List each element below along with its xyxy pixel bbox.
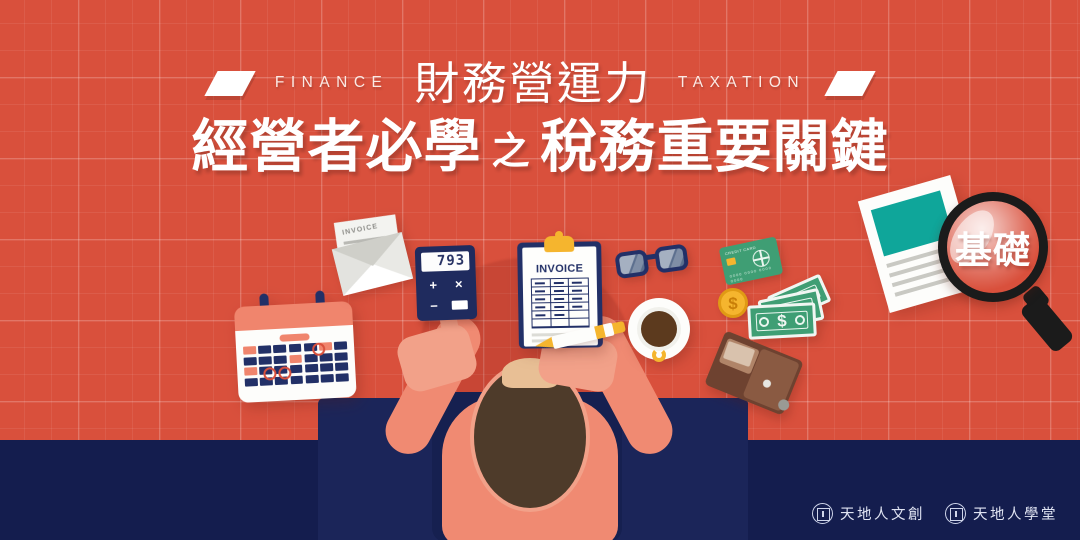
level-badge: 基礎 — [938, 192, 1048, 302]
magnifier-icon: 基礎 — [938, 192, 1078, 342]
calendar-day-grid — [243, 341, 349, 386]
calculator-key-plus: + — [429, 278, 437, 291]
calculator-key-multiply: × — [455, 277, 463, 290]
coffee-handle — [652, 348, 666, 362]
headline-part-1: 經營者必學 — [191, 114, 481, 180]
eyeglasses-icon — [614, 243, 693, 283]
course-banner: FINANCE 財務營運力 TAXATION 經營者必學之稅務重要關鍵 — [0, 0, 1080, 540]
credit-card-label: CREDIT CARD — [724, 245, 756, 256]
seal-logo-icon — [812, 503, 833, 524]
pen-end — [612, 321, 626, 334]
lens-right — [654, 243, 689, 273]
magnifier-handle — [1019, 294, 1075, 354]
invoice-table — [531, 277, 590, 328]
lens-left — [614, 249, 649, 279]
kicker-finance: FINANCE — [275, 74, 389, 92]
subtitle-chinese: 財務營運力 — [414, 61, 652, 106]
dollar-bills-icon: $ — [748, 284, 830, 340]
coffee-liquid — [641, 311, 677, 347]
footer-brands: 天地人文創 天地人學堂 — [812, 503, 1058, 524]
headline-part-2: 稅務重要關鍵 — [541, 114, 889, 180]
brand-name-xuetang: 天地人學堂 — [973, 503, 1058, 524]
calculator-display: 793 — [421, 251, 470, 272]
envelope-icon: INVOICE — [331, 228, 413, 296]
left-parallelogram-icon — [204, 71, 255, 96]
calculator-key-minus: − — [430, 300, 438, 313]
brand-xuetang[interactable]: 天地人學堂 — [945, 503, 1058, 524]
coffee-cup-icon — [628, 298, 690, 360]
credit-card-icon: CREDIT CARD 0000 0000 0000 0000 — [719, 236, 784, 285]
invoice-title: INVOICE — [522, 262, 596, 275]
banner-header: FINANCE 財務營運力 TAXATION 經營者必學之稅務重要關鍵 — [0, 54, 1080, 180]
gold-coin-icon: $ — [718, 288, 748, 318]
seal-logo-icon — [945, 503, 966, 524]
right-parallelogram-icon — [824, 71, 875, 96]
calendar-icon — [233, 289, 356, 403]
brand-wenchuang[interactable]: 天地人文創 — [812, 503, 925, 524]
kicker-taxation: TAXATION — [678, 74, 805, 92]
calculator-icon: 793 + × − — [415, 245, 478, 321]
invoice-letter-label: INVOICE — [342, 223, 379, 237]
brand-name-wenchuang: 天地人文創 — [840, 503, 925, 524]
page-title: 經營者必學之稅務重要關鍵 — [0, 116, 1080, 180]
banknote-dollar-sign: $ — [777, 312, 787, 329]
eyebrow-row: FINANCE 財務營運力 TAXATION — [0, 54, 1080, 112]
calculator-keys: + × − — [423, 275, 470, 315]
clipboard-clip — [544, 236, 574, 253]
headline-connector: 之 — [481, 129, 540, 173]
calculator-key-equals — [451, 301, 467, 311]
banknote-front: $ — [747, 302, 817, 340]
credit-card-chip — [726, 257, 736, 266]
